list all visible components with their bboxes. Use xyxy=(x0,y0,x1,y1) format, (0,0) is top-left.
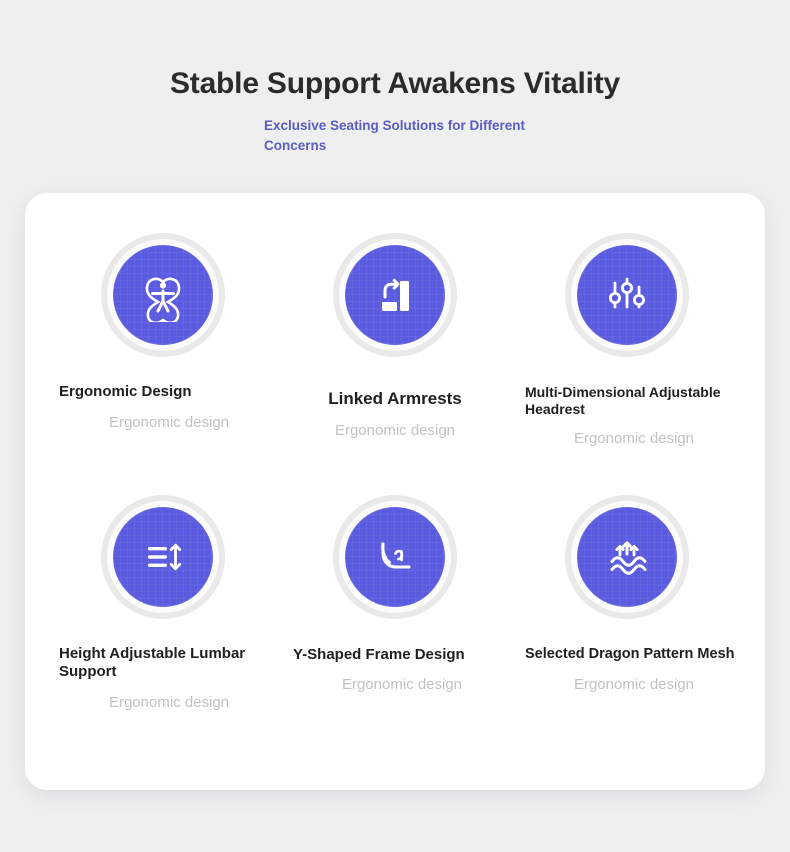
badge-inner-ring xyxy=(107,239,219,351)
feature-item-adjustable-headrest[interactable]: Multi-Dimensional Adjustable Headrest Er… xyxy=(511,233,743,495)
recline-seat-angle-icon xyxy=(369,531,421,583)
linked-armrest-icon xyxy=(369,269,421,321)
feature-title: Linked Armrests xyxy=(279,389,511,410)
feature-badge xyxy=(565,233,689,357)
feature-item-ergonomic-design[interactable]: Ergonomic Design Ergonomic design xyxy=(47,233,279,495)
feature-title: Ergonomic Design xyxy=(59,383,279,401)
badge-inner-ring xyxy=(571,501,683,613)
features-card: Ergonomic Design Ergonomic design xyxy=(25,193,765,790)
feature-caption: Ergonomic design xyxy=(59,413,279,433)
badge-disc xyxy=(113,245,213,345)
feature-item-lumbar-support[interactable]: Height Adjustable Lumbar Support Ergonom… xyxy=(47,495,279,757)
badge-inner-ring xyxy=(107,501,219,613)
badge-disc xyxy=(577,507,677,607)
feature-caption: Ergonomic design xyxy=(525,675,743,695)
badge-disc xyxy=(345,507,445,607)
breathable-mesh-waves-icon xyxy=(600,530,654,584)
feature-text-block: Height Adjustable Lumbar Support Ergonom… xyxy=(47,619,279,713)
feature-text-block: Y-Shaped Frame Design Ergonomic design xyxy=(279,619,511,695)
feature-item-dragon-pattern-mesh[interactable]: Selected Dragon Pattern Mesh Ergonomic d… xyxy=(511,495,743,757)
badge-inner-ring xyxy=(571,239,683,351)
feature-caption: Ergonomic design xyxy=(293,675,511,695)
badge-disc xyxy=(113,507,213,607)
feature-text-block: Linked Armrests Ergonomic design xyxy=(279,357,511,440)
feature-caption: Ergonomic design xyxy=(59,693,279,713)
page-subtitle-wrapper: Exclusive Seating Solutions for Differen… xyxy=(254,116,536,155)
feature-badge xyxy=(333,233,457,357)
features-grid: Ergonomic Design Ergonomic design xyxy=(25,193,765,790)
ergonomic-body-icon xyxy=(136,268,190,322)
feature-text-block: Ergonomic Design Ergonomic design xyxy=(47,357,279,433)
feature-item-y-shaped-frame[interactable]: Y-Shaped Frame Design Ergonomic design xyxy=(279,495,511,757)
feature-badge xyxy=(333,495,457,619)
multi-slider-icon xyxy=(601,269,653,321)
badge-disc xyxy=(577,245,677,345)
feature-caption: Ergonomic design xyxy=(279,421,511,441)
feature-badge xyxy=(101,495,225,619)
badge-disc xyxy=(345,245,445,345)
badge-inner-ring xyxy=(339,501,451,613)
badge-inner-ring xyxy=(339,239,451,351)
feature-title: Y-Shaped Frame Design xyxy=(293,646,511,664)
page-header: Stable Support Awakens Vitality Exclusiv… xyxy=(0,0,790,155)
feature-title: Height Adjustable Lumbar Support xyxy=(59,645,279,682)
page-subtitle: Exclusive Seating Solutions for Differen… xyxy=(264,116,536,155)
feature-badge xyxy=(565,495,689,619)
feature-title: Multi-Dimensional Adjustable Headrest xyxy=(525,384,743,417)
page-title: Stable Support Awakens Vitality xyxy=(0,66,790,102)
feature-text-block: Selected Dragon Pattern Mesh Ergonomic d… xyxy=(511,619,743,695)
feature-item-linked-armrests[interactable]: Linked Armrests Ergonomic design xyxy=(279,233,511,495)
feature-caption: Ergonomic design xyxy=(525,429,743,449)
height-adjust-arrow-icon xyxy=(137,531,189,583)
feature-text-block: Multi-Dimensional Adjustable Headrest Er… xyxy=(511,357,743,449)
feature-title: Selected Dragon Pattern Mesh xyxy=(525,646,743,663)
feature-badge xyxy=(101,233,225,357)
